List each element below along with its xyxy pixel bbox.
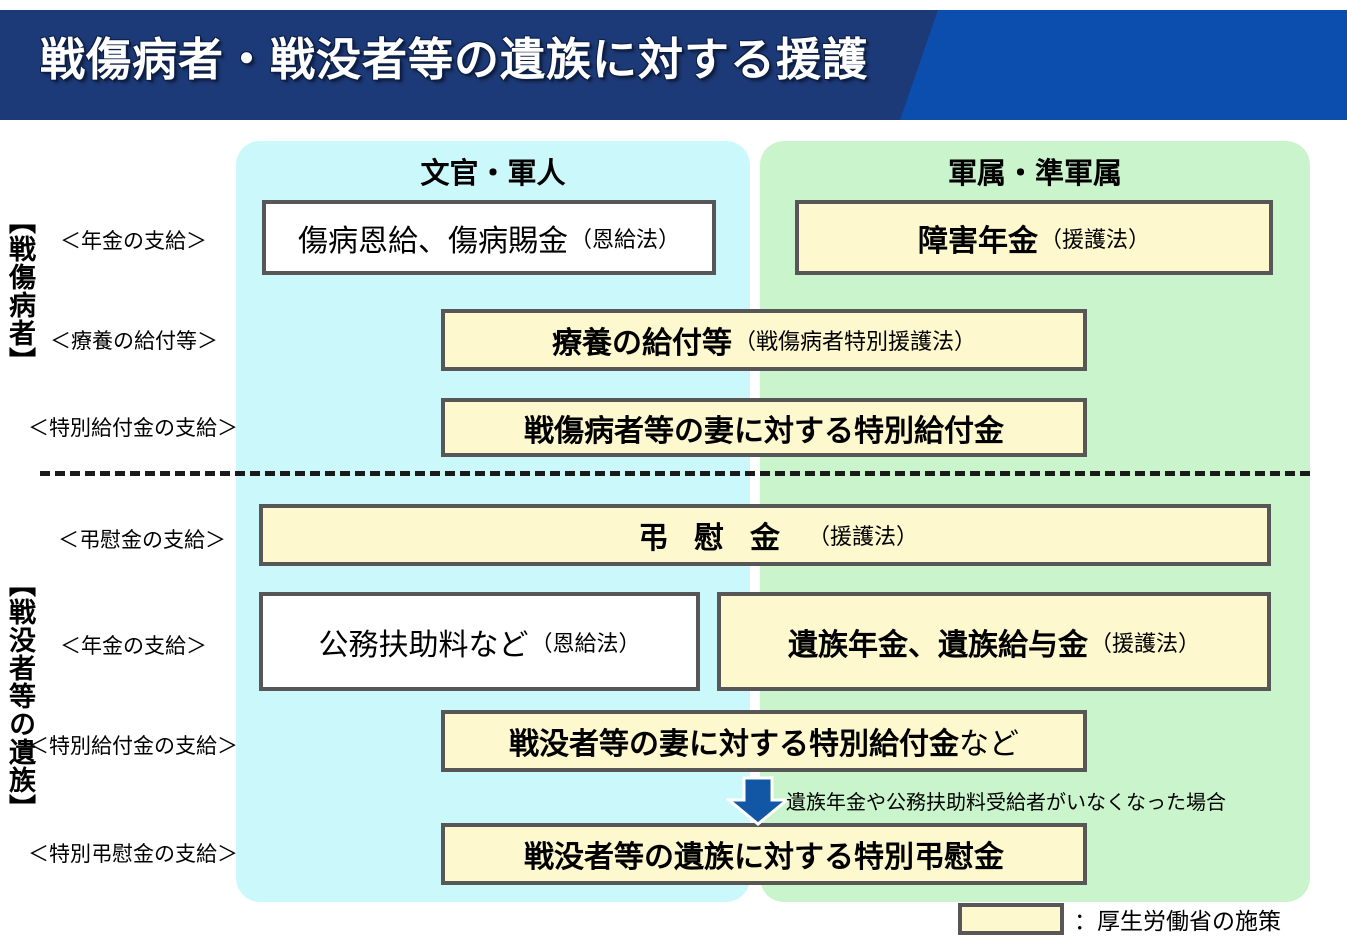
legend-swatch bbox=[958, 903, 1064, 935]
column-header-civil-military: 文官・軍人 bbox=[236, 150, 750, 192]
row-label-condolence: ＜弔慰金の支給＞ bbox=[58, 524, 226, 554]
row-label-medical: ＜療養の給付等＞ bbox=[50, 325, 218, 355]
section-label-injured: 【戦傷病者】 bbox=[6, 207, 33, 375]
column-header-military-affiliated: 軍属・準軍属 bbox=[760, 150, 1310, 192]
row-label-special-benefit-1: ＜特別給付金の支給＞ bbox=[28, 412, 238, 442]
box-special-condolence-money-main: 戦没者等の遺族に対する特別弔慰金 bbox=[524, 832, 1004, 876]
box-disability-pension-main: 障害年金 bbox=[918, 216, 1038, 260]
page-title: 戦傷病者・戦没者等の遺族に対する援護 bbox=[40, 0, 868, 110]
box-condolence-money: 弔慰金 （援護法） bbox=[259, 504, 1271, 566]
box-medical-benefit-main: 療養の給付等 bbox=[552, 318, 732, 362]
row-label-special-condolence: ＜特別弔慰金の支給＞ bbox=[28, 838, 238, 868]
box-survivor-pension: 遺族年金、遺族給与金 （援護法） bbox=[717, 592, 1271, 691]
box-wife-special-benefit: 戦傷病者等の妻に対する特別給付金 bbox=[441, 398, 1087, 457]
box-condolence-money-sub: （援護法） bbox=[808, 519, 918, 551]
box-injury-pension-main: 傷病恩給、傷病賜金 bbox=[298, 216, 568, 260]
box-wife-special-benefit-main: 戦傷病者等の妻に対する特別給付金 bbox=[524, 406, 1004, 450]
box-war-dead-wife-benefit-main: 戦没者等の妻に対する特別給付金 bbox=[509, 719, 959, 763]
box-special-condolence-money: 戦没者等の遺族に対する特別弔慰金 bbox=[441, 823, 1087, 885]
box-medical-benefit: 療養の給付等 （戦傷病者特別援護法） bbox=[441, 309, 1087, 371]
row-label-special-benefit-2: ＜特別給付金の支給＞ bbox=[28, 730, 238, 760]
box-war-dead-wife-benefit: 戦没者等の妻に対する特別給付金 など bbox=[441, 710, 1087, 772]
arrow-annotation: 遺族年金や公務扶助料受給者がいなくなった場合 bbox=[786, 786, 1226, 815]
box-public-service-aid-main: 公務扶助料など bbox=[318, 620, 528, 664]
legend-label: ：厚生労働省の施策 bbox=[1074, 902, 1281, 936]
box-disability-pension: 障害年金 （援護法） bbox=[795, 200, 1273, 275]
box-injury-pension: 傷病恩給、傷病賜金 （恩給法） bbox=[262, 200, 716, 275]
box-survivor-pension-main: 遺族年金、遺族給与金 bbox=[788, 620, 1088, 664]
box-war-dead-wife-benefit-tail: など bbox=[959, 719, 1019, 763]
down-arrow-icon bbox=[726, 776, 790, 826]
section-divider bbox=[40, 471, 1310, 476]
legend: ：厚生労働省の施策 bbox=[958, 902, 1281, 936]
box-survivor-pension-sub: （援護法） bbox=[1090, 626, 1200, 658]
box-medical-benefit-sub: （戦傷病者特別援護法） bbox=[734, 324, 976, 356]
box-public-service-aid-sub: （恩給法） bbox=[530, 626, 640, 658]
row-label-pension-1: ＜年金の支給＞ bbox=[60, 225, 207, 255]
box-public-service-aid: 公務扶助料など （恩給法） bbox=[259, 592, 700, 691]
header-accent-wedge bbox=[900, 10, 1347, 120]
box-condolence-money-main: 弔慰金 bbox=[612, 513, 806, 557]
diagram-canvas: 戦傷病者・戦没者等の遺族に対する援護 文官・軍人 軍属・準軍属 【戦傷病者】 【… bbox=[0, 0, 1347, 952]
row-label-pension-2: ＜年金の支給＞ bbox=[60, 630, 207, 660]
section-label-bereaved: 【戦没者等の遺族】 bbox=[6, 570, 33, 822]
box-injury-pension-sub: （恩給法） bbox=[570, 222, 680, 254]
box-disability-pension-sub: （援護法） bbox=[1040, 222, 1150, 254]
